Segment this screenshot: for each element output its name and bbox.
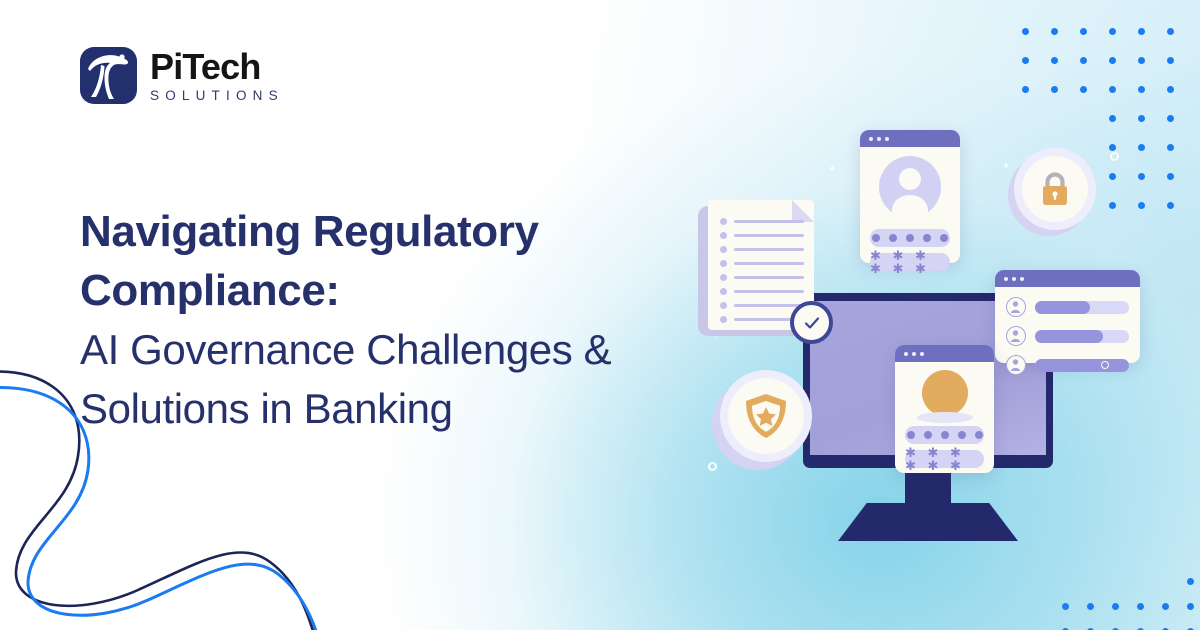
grid-dot <box>1051 86 1058 93</box>
page-title: Navigating Regulatory Compliance: AI Gov… <box>80 202 680 438</box>
grid-dot <box>1051 28 1058 35</box>
grid-dot <box>1167 144 1174 151</box>
card-title-bar <box>895 345 994 362</box>
grid-dot <box>1167 86 1174 93</box>
user-avatar-icon <box>1006 355 1026 375</box>
shield-star-icon <box>728 378 804 454</box>
grid-dot <box>1109 57 1116 64</box>
brand-logo[interactable]: PiTech SOLUTIONS <box>80 47 284 104</box>
doc-bullet <box>720 232 727 239</box>
regulatory-compliance-illustration: ✱ ✱ ✱ ✱ ✱ ✱ <box>690 118 1160 518</box>
permission-slider[interactable] <box>1035 330 1129 343</box>
grid-dot <box>1080 28 1087 35</box>
grid-dot <box>1138 86 1145 93</box>
grid-dot <box>1112 603 1119 610</box>
window-dot-icon <box>1012 277 1016 281</box>
dot-grid-bottom-right <box>1062 578 1197 630</box>
shield-badge <box>712 370 812 470</box>
doc-bullet <box>720 302 727 309</box>
doc-bullet <box>720 288 727 295</box>
check-circle-icon <box>790 301 833 344</box>
grid-dot <box>1187 603 1194 610</box>
lock-badge <box>1008 148 1096 236</box>
title-line-2: Compliance: <box>80 261 680 320</box>
permission-slider[interactable] <box>1035 301 1129 314</box>
card-title-bar <box>995 270 1140 287</box>
user-avatar-icon <box>1006 326 1026 346</box>
user-avatar-icon <box>1006 297 1026 317</box>
doc-line <box>734 262 804 265</box>
grid-dot <box>1087 603 1094 610</box>
avatar-shadow <box>917 412 973 423</box>
slider-knob[interactable] <box>1101 361 1109 369</box>
doc-line <box>734 220 804 223</box>
permission-row[interactable] <box>1006 355 1129 375</box>
doc-bullet <box>720 218 727 225</box>
gold-avatar-icon <box>922 370 968 416</box>
window-dot-icon <box>1004 277 1008 281</box>
grid-dot <box>1080 86 1087 93</box>
window-dot-icon <box>885 137 889 141</box>
grid-dot <box>1167 115 1174 122</box>
grid-dot <box>1109 28 1116 35</box>
window-dot-icon <box>1020 277 1024 281</box>
window-dot-icon <box>912 352 916 356</box>
brand-name: PiTech <box>150 49 284 85</box>
password-field[interactable]: ✱ ✱ ✱ ✱ ✱ ✱ <box>870 253 950 271</box>
pitech-pi-mark-icon <box>80 47 137 104</box>
grid-dot <box>1187 578 1194 585</box>
person-avatar-icon <box>879 156 941 218</box>
doc-bullet <box>720 246 727 253</box>
grid-dot <box>1137 603 1144 610</box>
grid-dot <box>1109 86 1116 93</box>
password-mask: ✱ ✱ ✱ ✱ ✱ ✱ <box>870 249 950 275</box>
grid-dot <box>1062 603 1069 610</box>
window-dot-icon <box>877 137 881 141</box>
doc-line <box>734 290 804 293</box>
permission-slider[interactable] <box>1035 359 1129 372</box>
grid-dot <box>1022 86 1029 93</box>
grid-dot <box>1167 202 1174 209</box>
permission-row[interactable] <box>1006 297 1129 317</box>
grid-dot <box>1167 57 1174 64</box>
grid-dot <box>1051 57 1058 64</box>
permission-row[interactable] <box>1006 326 1129 346</box>
grid-dot <box>1138 28 1145 35</box>
user-permissions-panel[interactable] <box>995 270 1140 363</box>
grid-dot <box>1162 603 1169 610</box>
window-dot-icon <box>920 352 924 356</box>
grid-dot <box>1022 28 1029 35</box>
profile-login-card[interactable]: ✱ ✱ ✱ ✱ ✱ ✱ <box>895 345 994 473</box>
subtitle-line-2: Solutions in Banking <box>80 379 680 438</box>
grid-dot <box>1167 28 1174 35</box>
title-line-1: Navigating Regulatory <box>80 202 680 261</box>
window-dot-icon <box>869 137 873 141</box>
social-card-canvas: PiTech SOLUTIONS Navigating Regulatory C… <box>0 0 1200 630</box>
doc-line <box>734 304 804 307</box>
password-field[interactable]: ✱ ✱ ✱ ✱ ✱ ✱ <box>905 450 984 468</box>
user-login-card[interactable]: ✱ ✱ ✱ ✱ ✱ ✱ <box>860 130 960 263</box>
username-field[interactable] <box>905 426 984 444</box>
doc-bullet <box>720 260 727 267</box>
window-dot-icon <box>904 352 908 356</box>
doc-bullet <box>720 316 727 323</box>
grid-dot <box>1022 57 1029 64</box>
grid-dot <box>1138 57 1145 64</box>
grid-dot <box>1167 173 1174 180</box>
subtitle-line-1: AI Governance Challenges & <box>80 320 680 379</box>
doc-line <box>734 276 804 279</box>
monitor-base <box>838 503 1018 541</box>
card-title-bar <box>860 130 960 147</box>
doc-line <box>734 234 804 237</box>
lock-icon <box>1022 156 1088 222</box>
doc-line <box>734 248 804 251</box>
brand-tagline: SOLUTIONS <box>150 89 284 103</box>
password-mask: ✱ ✱ ✱ ✱ ✱ ✱ <box>905 446 984 472</box>
grid-dot <box>1080 57 1087 64</box>
username-field[interactable] <box>870 229 950 247</box>
doc-bullet <box>720 274 727 281</box>
